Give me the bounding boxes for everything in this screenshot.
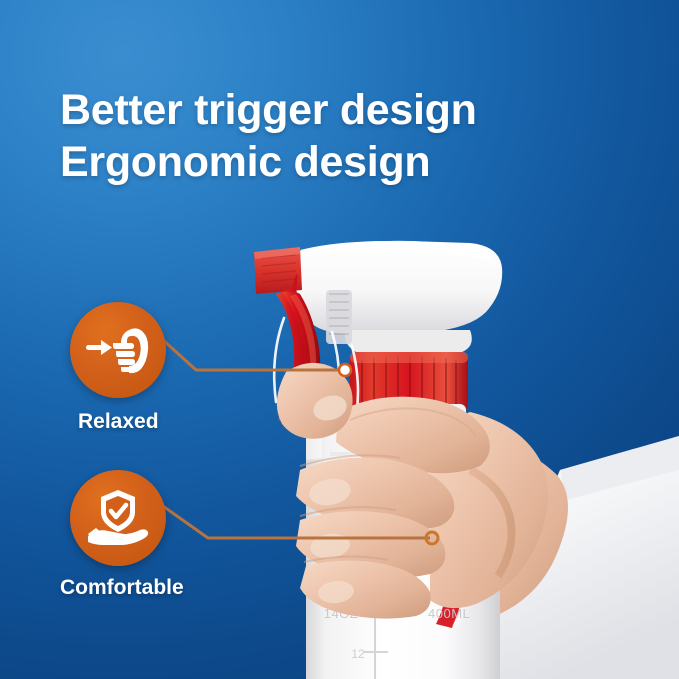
feature-badge-comfortable[interactable]: [70, 470, 166, 566]
measure-ml: 400ML: [428, 606, 470, 621]
feature-label-relaxed: Relaxed: [78, 410, 159, 434]
hand: [277, 363, 548, 619]
measure-secondary: 12: [351, 647, 365, 661]
headline: Better trigger design Ergonomic design: [60, 84, 620, 188]
headline-line-2: Ergonomic design: [60, 136, 620, 188]
pointing-hand-arrow-icon: [85, 324, 151, 376]
feature-badge-relaxed[interactable]: [70, 302, 166, 398]
feature-label-comfortable: Comfortable: [60, 576, 184, 600]
sprayer-head: [295, 241, 502, 352]
hand-holding-shield-check-icon: [86, 488, 150, 548]
headline-line-1: Better trigger design: [60, 86, 477, 134]
product-feature-infographic: 14OZ 400ML 12: [0, 0, 679, 679]
